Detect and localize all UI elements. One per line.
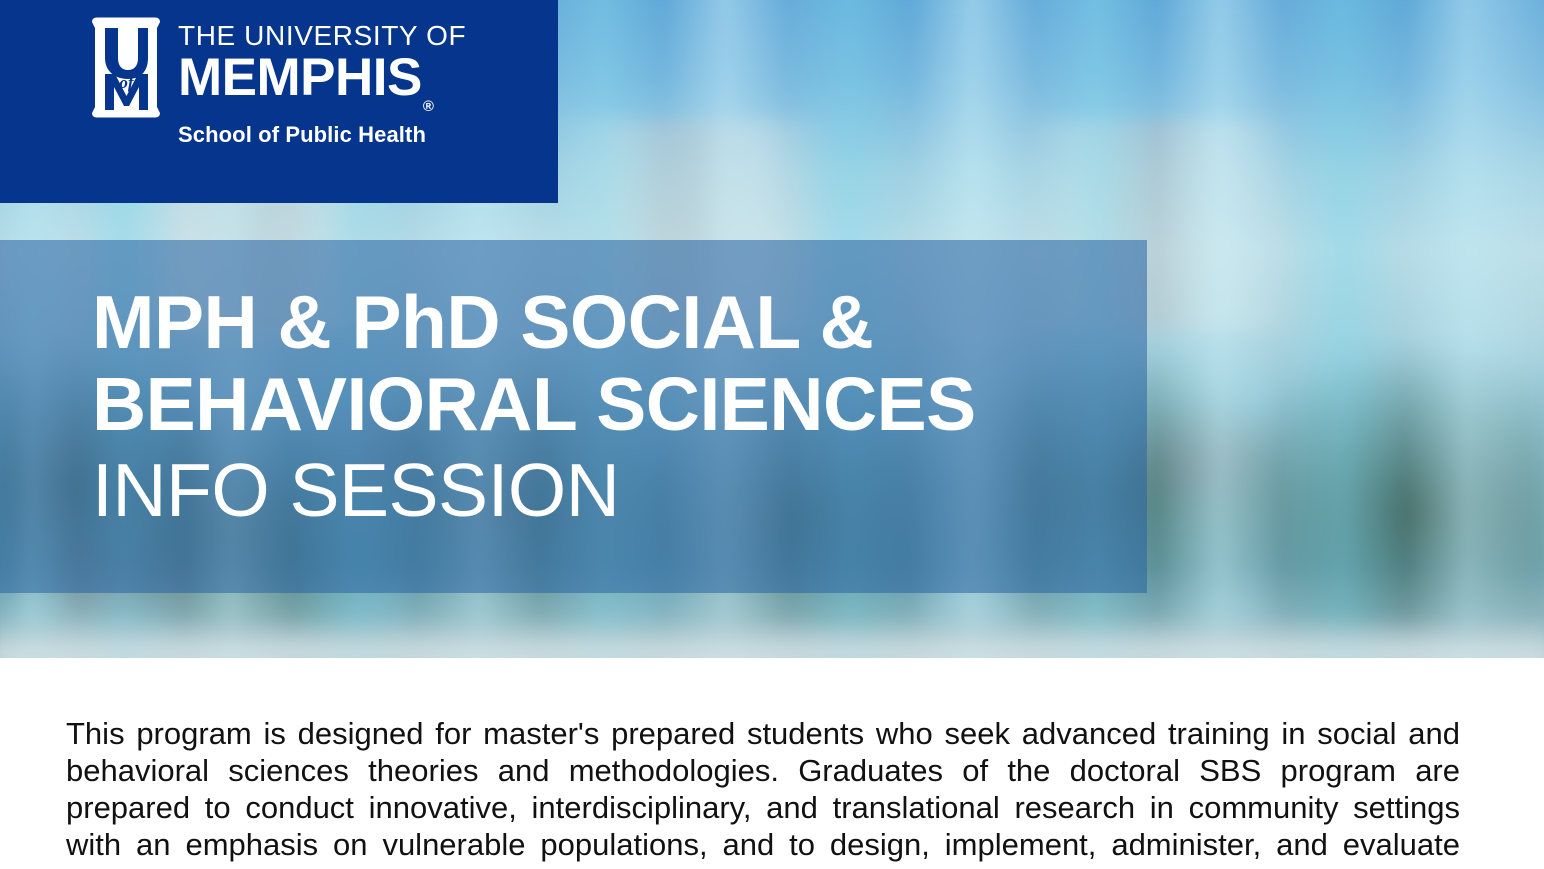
registered-trademark-icon: ® (423, 98, 434, 115)
svg-text:of: of (119, 73, 136, 92)
title-line-3: INFO SESSION (92, 448, 1132, 532)
title-line-2: BEHAVIORAL SCIENCES (92, 364, 1132, 446)
wordmark-memphis-text: MEMPHIS (178, 48, 422, 107)
wordmark-main-line: MEMPHIS® (178, 51, 432, 110)
brand-header: of THE UNIVERSITY OF MEMPHIS® School of … (0, 0, 558, 203)
school-name: School of Public Health (178, 124, 466, 146)
brand-lockup: of THE UNIVERSITY OF MEMPHIS® School of … (88, 14, 466, 146)
title-line-1: MPH & PhD SOCIAL & (92, 282, 1132, 364)
uofm-wordmark: THE UNIVERSITY OF MEMPHIS® School of Pub… (178, 14, 466, 146)
program-description: This program is designed for master's pr… (66, 715, 1460, 869)
info-session-poster: MPH & PhD SOCIAL & BEHAVIORAL SCIENCES I… (0, 0, 1544, 869)
hero-section: MPH & PhD SOCIAL & BEHAVIORAL SCIENCES I… (0, 0, 1544, 658)
fountain-pool-edge (0, 616, 1544, 658)
wordmark-top-line: THE UNIVERSITY OF (178, 22, 466, 50)
uofm-shield-logo-icon: of (88, 16, 164, 119)
poster-title: MPH & PhD SOCIAL & BEHAVIORAL SCIENCES I… (92, 282, 1132, 532)
